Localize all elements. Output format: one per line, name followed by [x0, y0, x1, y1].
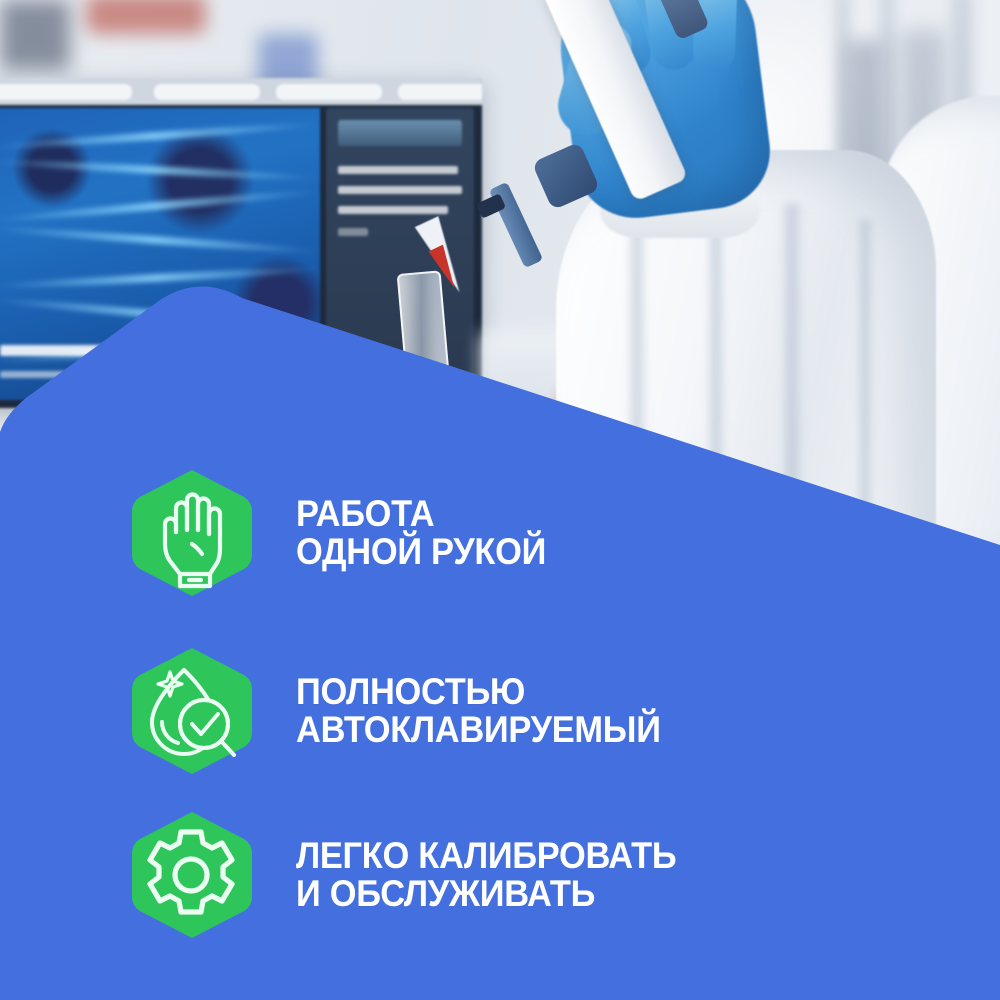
glove-hand-icon [128, 466, 256, 600]
feature-item-one-handed: РАБОТАОДНОЙ РУКОЙ [128, 466, 565, 600]
droplet-magnifier-check-icon [128, 644, 256, 778]
feature-label: ЛЕГКО КАЛИБРОВАТЬИ ОБСЛУЖИВАТЬ [296, 837, 676, 912]
promo-card: РАБОТАОДНОЙ РУКОЙ ПОЛН [0, 0, 1000, 1000]
feature-label: ПОЛНОСТЬЮАВТОКЛАВИРУЕМЫЙ [296, 673, 661, 748]
gear-icon [128, 808, 256, 942]
feature-item-easy-calibrate: ЛЕГКО КАЛИБРОВАТЬИ ОБСЛУЖИВАТЬ [128, 808, 705, 942]
feature-list: РАБОТАОДНОЙ РУКОЙ ПОЛН [0, 0, 1000, 1000]
feature-label: РАБОТАОДНОЙ РУКОЙ [296, 495, 546, 570]
feature-item-autoclavable: ПОЛНОСТЬЮАВТОКЛАВИРУЕМЫЙ [128, 644, 688, 778]
